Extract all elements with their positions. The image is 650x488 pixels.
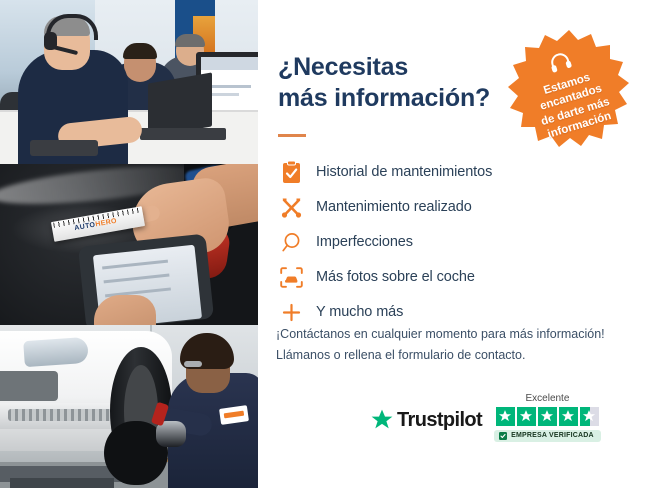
tablet-line-1 bbox=[102, 260, 168, 270]
verified-badge: EMPRESA VERIFICADA bbox=[494, 430, 601, 442]
feature-item-maintenance-done: Mantenimiento realizado bbox=[276, 191, 606, 223]
feature-label: Y mucho más bbox=[316, 304, 403, 320]
feature-label: Mantenimiento realizado bbox=[316, 199, 472, 215]
plus-icon bbox=[276, 299, 306, 325]
tablet-holding-hand-decor bbox=[94, 295, 156, 325]
promo-badge: Estamos encantados de darte más informac… bbox=[506, 28, 632, 154]
information-banner: AUTOHERO bbox=[0, 0, 650, 488]
verified-label: EMPRESA VERIFICADA bbox=[511, 432, 594, 439]
feature-list: Historial de mantenimientos M bbox=[276, 156, 606, 331]
trustpilot-wordmark: Trustpilot bbox=[397, 409, 482, 432]
feature-item-more-photos: Más fotos sobre el coche bbox=[276, 261, 606, 293]
feature-label: Historial de mantenimientos bbox=[316, 164, 492, 180]
headlight-decor bbox=[23, 337, 89, 367]
star-2 bbox=[517, 407, 536, 426]
laptop-base-decor bbox=[140, 128, 226, 140]
trustpilot-widget[interactable]: Trustpilot Excelente bbox=[370, 384, 638, 450]
desk-tablet-decor bbox=[30, 140, 98, 156]
headline-line-2: más información? bbox=[278, 83, 533, 114]
car-frame-icon bbox=[276, 264, 306, 290]
photo-call-center bbox=[0, 0, 258, 164]
rating-label: Excelente bbox=[525, 393, 569, 404]
background-person-2-hair bbox=[175, 34, 205, 47]
contact-line-1: ¡Contáctanos en cualquier momento para m… bbox=[276, 324, 636, 345]
verified-check-icon bbox=[499, 432, 507, 440]
tablet-line-2 bbox=[104, 274, 170, 284]
photo-column: AUTOHERO bbox=[0, 0, 258, 488]
background-person-1-hair bbox=[123, 43, 157, 59]
contact-line-2: Llámanos o rellena el formulario de cont… bbox=[276, 345, 636, 366]
photo-wheel-inspection bbox=[0, 325, 258, 488]
trustpilot-logo: Trustpilot bbox=[370, 408, 482, 432]
star-4 bbox=[559, 407, 578, 426]
tools-cross-icon bbox=[276, 194, 306, 220]
patch-mark-decor bbox=[224, 411, 245, 419]
content-panel: ¿Necesitas más información? Estamos bbox=[258, 0, 650, 488]
car-lift-base-decor bbox=[10, 478, 114, 488]
bumper-vent-decor bbox=[8, 409, 118, 421]
feature-label: Imperfecciones bbox=[316, 234, 413, 250]
safety-glasses-decor bbox=[184, 361, 202, 367]
star-5-half bbox=[580, 407, 599, 426]
feature-item-maintenance-history: Historial de mantenimientos bbox=[276, 156, 606, 188]
feature-item-imperfections: Imperfecciones bbox=[276, 226, 606, 258]
star-rating bbox=[496, 407, 599, 426]
star-1 bbox=[496, 407, 515, 426]
contact-copy: ¡Contáctanos en cualquier momento para m… bbox=[276, 324, 636, 365]
grille-decor bbox=[0, 371, 58, 401]
star-3 bbox=[538, 407, 557, 426]
magnifier-icon bbox=[276, 229, 306, 255]
feature-label: Más fotos sobre el coche bbox=[316, 269, 475, 285]
trustpilot-star-icon bbox=[370, 408, 394, 432]
clipboard-check-icon bbox=[276, 159, 306, 185]
badge-text: Estamos encantados de darte más informac… bbox=[515, 63, 631, 147]
photo-body-inspection: AUTOHERO bbox=[0, 164, 258, 325]
headline-divider bbox=[278, 134, 306, 137]
trustpilot-rating: Excelente bbox=[494, 393, 601, 442]
